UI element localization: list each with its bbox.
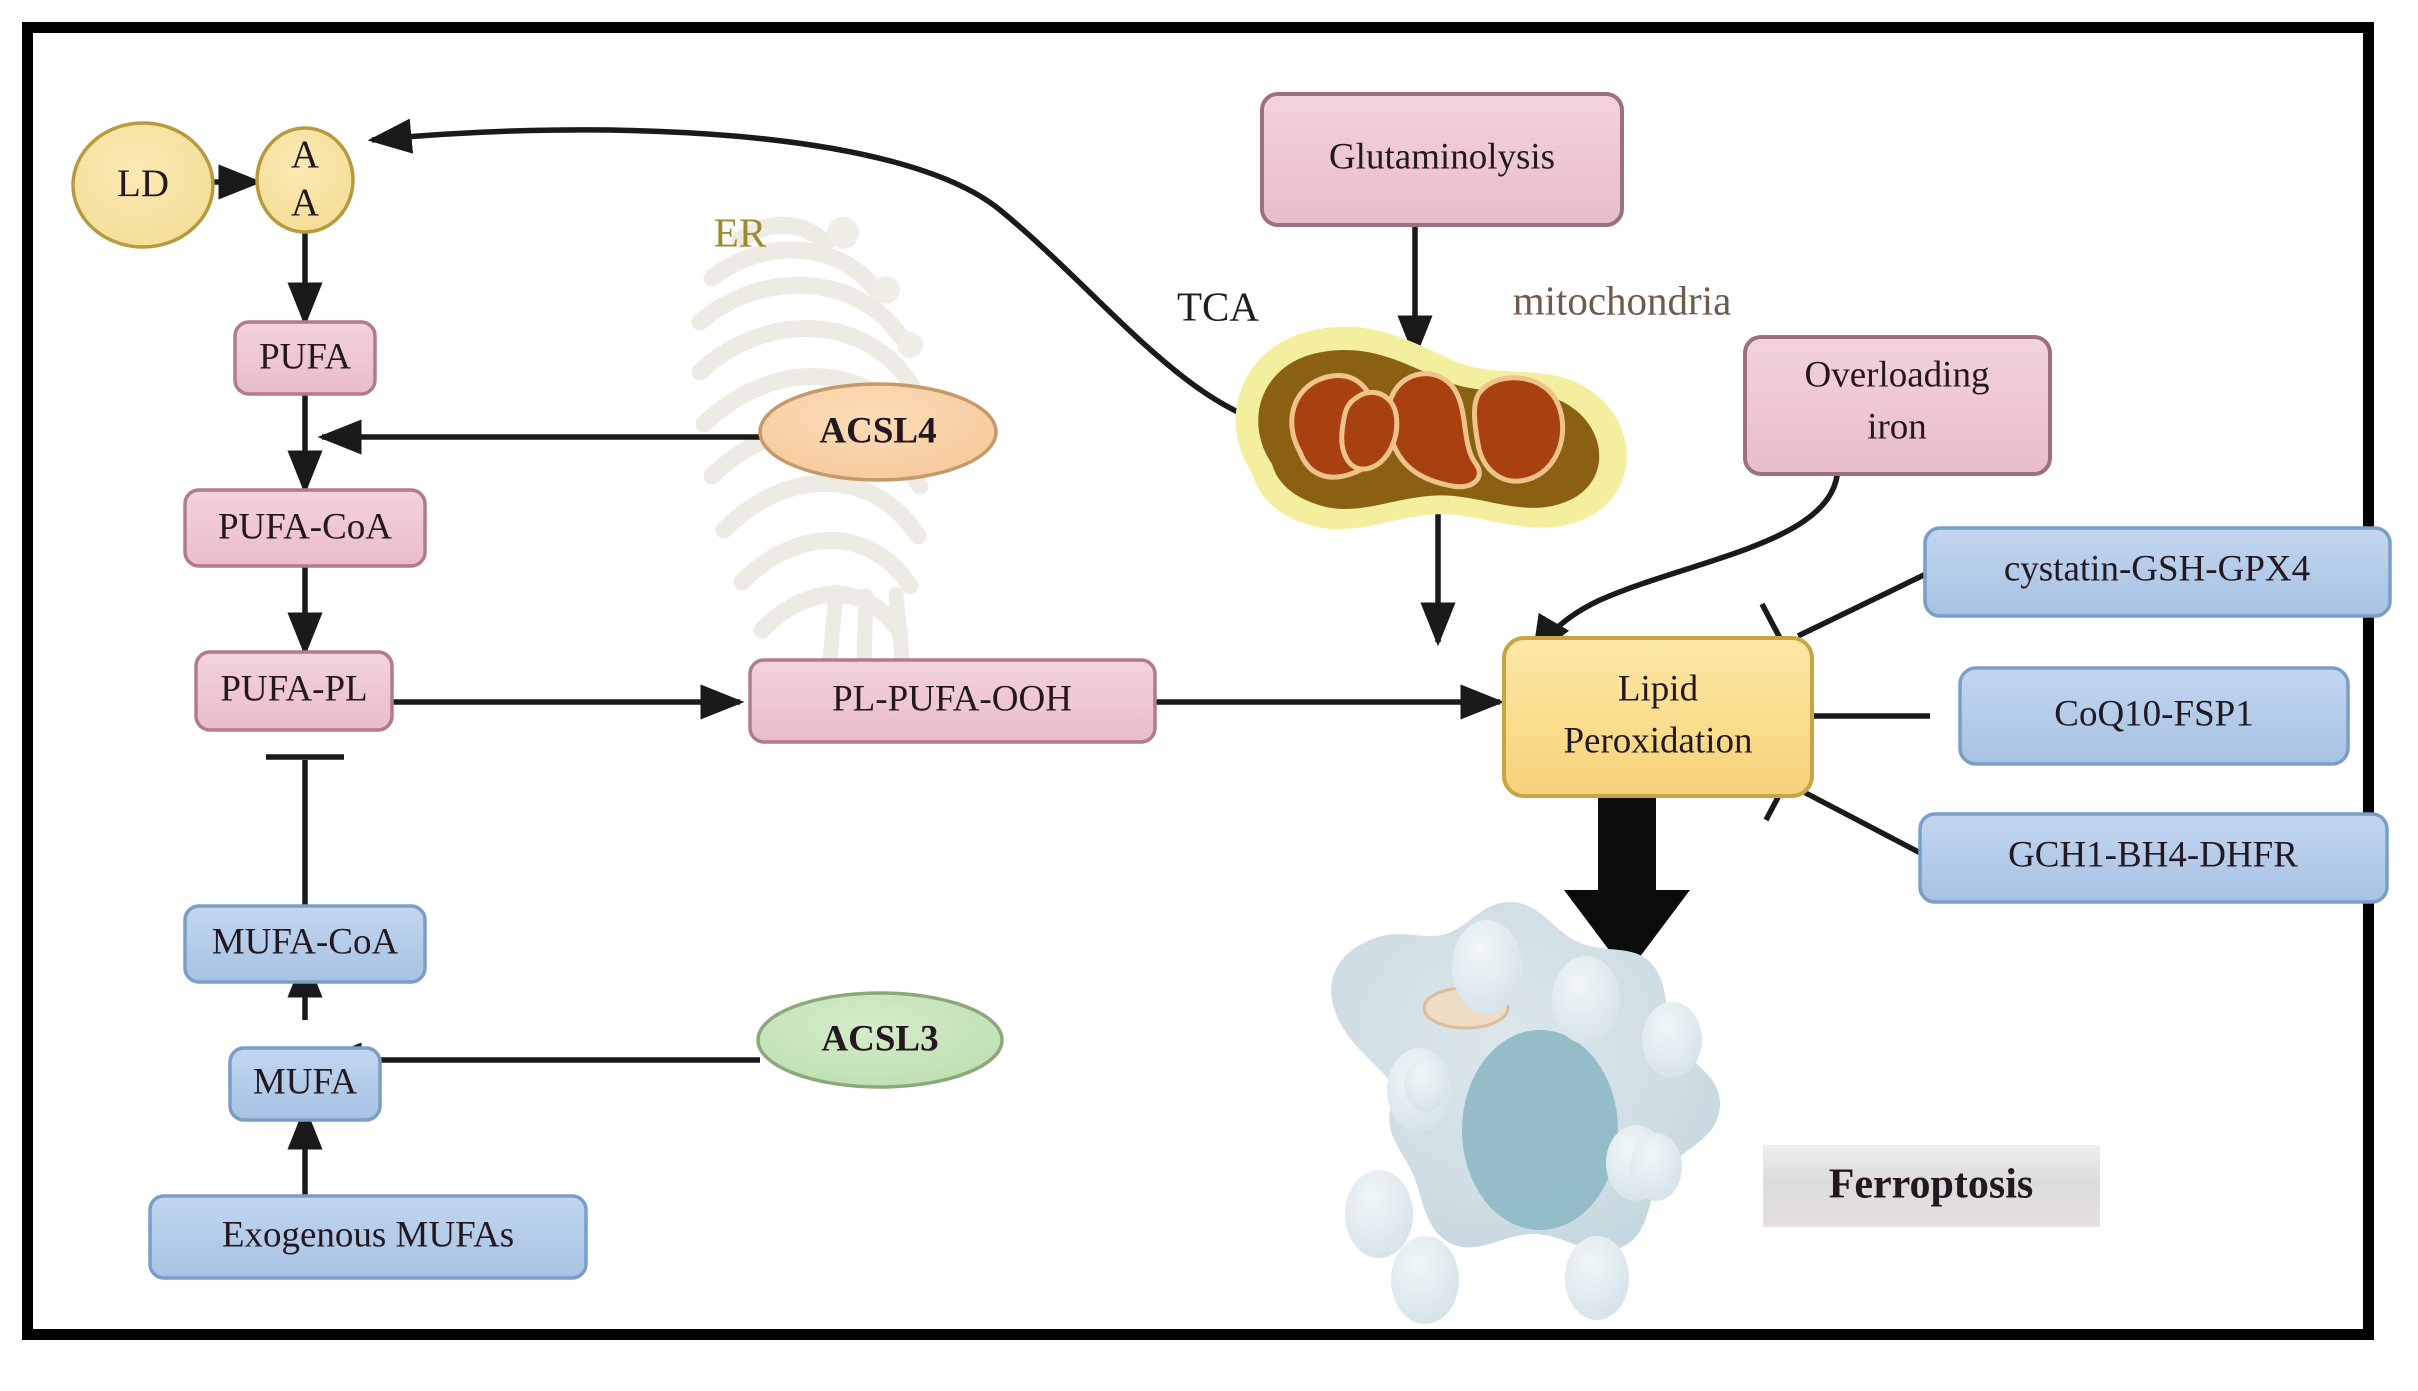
node-lipid-peroxidation[interactable] xyxy=(1504,638,1812,796)
node-mufa-coa-label: MUFA-CoA xyxy=(212,921,399,962)
node-glutaminolysis-label: Glutaminolysis xyxy=(1329,136,1555,177)
node-acsl3-label: ACSL3 xyxy=(821,1018,938,1059)
node-lipid-peroxidation-label-line2: Peroxidation xyxy=(1563,720,1752,761)
figure-canvas: LD A A PUFA PUFA-CoA PUFA-PL PL-PUFA-OOH… xyxy=(0,0,2418,1391)
node-pl-pufa-ooh-label: PL-PUFA-OOH xyxy=(832,678,1072,719)
node-exogenous-mufas-label: Exogenous MUFAs xyxy=(222,1214,514,1255)
tca-label: TCA xyxy=(1177,283,1259,329)
node-pufa-coa-label: PUFA-CoA xyxy=(218,506,392,547)
ferroptotic-cell-illustration xyxy=(1331,902,1720,1324)
er-label: ER xyxy=(714,209,767,255)
edge-gch1-inhibits xyxy=(1800,790,1930,858)
node-overloading-iron-label-line2: iron xyxy=(1867,406,1927,447)
node-acsl4-label: ACSL4 xyxy=(819,410,936,451)
node-aa-label-line1: A xyxy=(291,133,319,176)
node-mufa-label: MUFA xyxy=(253,1061,357,1102)
node-ld-label: LD xyxy=(117,162,169,205)
node-lipid-peroxidation-label-line1: Lipid xyxy=(1618,668,1699,709)
node-aa-label-line2: A xyxy=(291,181,319,224)
mitochondria-illustration xyxy=(1247,338,1616,518)
node-ferroptosis-label: Ferroptosis xyxy=(1829,1162,2034,1208)
node-pufa-label: PUFA xyxy=(259,336,351,377)
edge-cystatin-inhibits xyxy=(1798,572,1930,636)
node-cystatin-gsh-gpx4-label: cystatin-GSH-GPX4 xyxy=(2004,548,2310,589)
pathway-diagram: LD A A PUFA PUFA-CoA PUFA-PL PL-PUFA-OOH… xyxy=(0,0,2418,1391)
node-coq10-fsp1-label: CoQ10-FSP1 xyxy=(2054,693,2253,734)
node-pufa-pl-label: PUFA-PL xyxy=(220,668,367,709)
node-overloading-iron-label-line1: Overloading xyxy=(1805,354,1990,395)
cell-nucleus xyxy=(1462,1030,1618,1230)
node-gch1-bh4-dhfr-label: GCH1-BH4-DHFR xyxy=(2008,834,2298,875)
mitochondria-label: mitochondria xyxy=(1513,277,1732,323)
